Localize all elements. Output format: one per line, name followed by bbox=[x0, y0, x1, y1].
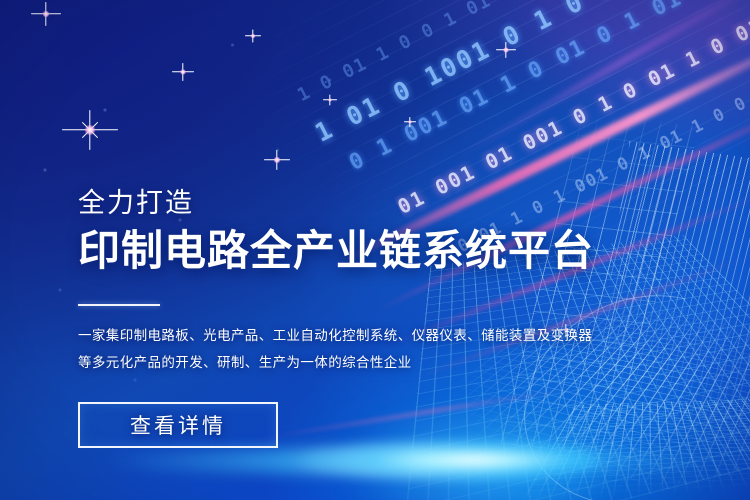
hero-banner: 1 0 01 1 0 0 1 01 0 1 1 0 01 0 1 0 1 0 1… bbox=[0, 0, 750, 500]
wireframe-fan-icon bbox=[588, 141, 750, 459]
hero-description-line-1: 一家集印制电路板、光电产品、工业自动化控制系统、仪器仪表、储能装置及变换器 bbox=[78, 322, 598, 349]
hero-headline: 印制电路全产业链系统平台 bbox=[78, 229, 598, 274]
hero-description-line-2: 等多元化产品的开发、研制、生产为一体的综合性企业 bbox=[78, 349, 598, 376]
binary-stream-icon: 1 0 01 1 0 0 1 01 0 1 1 0 01 0 1 0 1 0 1 bbox=[294, 0, 750, 111]
binary-stream-icon: 1 01 0 1001 0 1 0 01 1 01 1 0 01 10 0 bbox=[310, 0, 750, 152]
binary-stream-icon: 0 1 001 01 1 0 01 0 1 01 1 001 0 1 10 bbox=[345, 0, 750, 180]
hero-content: 全力打造 印制电路全产业链系统平台 一家集印制电路板、光电产品、工业自动化控制系… bbox=[78, 190, 598, 448]
view-details-button[interactable]: 查看详情 bbox=[78, 402, 278, 448]
hero-eyebrow: 全力打造 bbox=[78, 190, 598, 217]
light-burst-beam-icon bbox=[100, 448, 720, 474]
light-streak-icon bbox=[445, 0, 750, 166]
title-divider bbox=[78, 304, 160, 306]
hero-description: 一家集印制电路板、光电产品、工业自动化控制系统、仪器仪表、储能装置及变换器 等多… bbox=[78, 322, 598, 376]
